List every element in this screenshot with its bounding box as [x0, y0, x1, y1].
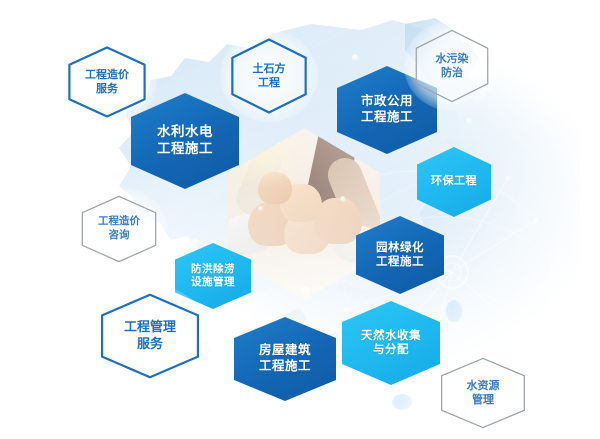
hexagon-shuiwuran-fangzhi[interactable]: 水污染 防治 [414, 29, 490, 103]
hexagon-label: 工程造价 咨询 [80, 195, 158, 263]
infographic-canvas: 工程造价 服务土石方 工程水利水电 工程施工市政公用 工程施工水污染 防治环保工… [0, 0, 600, 439]
hexagon-label: 房屋建筑 工程施工 [259, 343, 311, 374]
hexagon-gongcheng-zaojia-fuwu[interactable]: 工程造价 服务 [67, 46, 147, 118]
hexagon-gongcheng-zaojia-zixun[interactable]: 工程造价 咨询 [80, 195, 158, 263]
hexagon-label: 工程造价 服务 [67, 46, 147, 118]
hexagon-gongcheng-guanli-fuwu[interactable]: 工程管理 服务 [99, 293, 201, 379]
hexagon-label: 水污染 防治 [414, 29, 490, 103]
hexagon-label: 水资源 管理 [439, 357, 527, 429]
hexagon-label: 防洪除涝 设施管理 [191, 263, 235, 289]
hexagon-label: 市政公用 工程施工 [361, 94, 413, 125]
hexagon-tushifang-gongcheng[interactable]: 土石方 工程 [230, 38, 308, 114]
hexagon-label: 土石方 工程 [230, 38, 308, 114]
hexagon-label: 园林绿化 工程施工 [376, 241, 424, 270]
hexagon-label: 环保工程 [431, 175, 477, 189]
hexagon-label: 水利水电 工程施工 [157, 124, 213, 158]
hexagon-label: 天然水收集 与分配 [361, 329, 421, 358]
hexagon-label: 工程管理 服务 [99, 293, 201, 379]
hexagon-shuiziyuan-guanli[interactable]: 水资源 管理 [439, 357, 527, 429]
